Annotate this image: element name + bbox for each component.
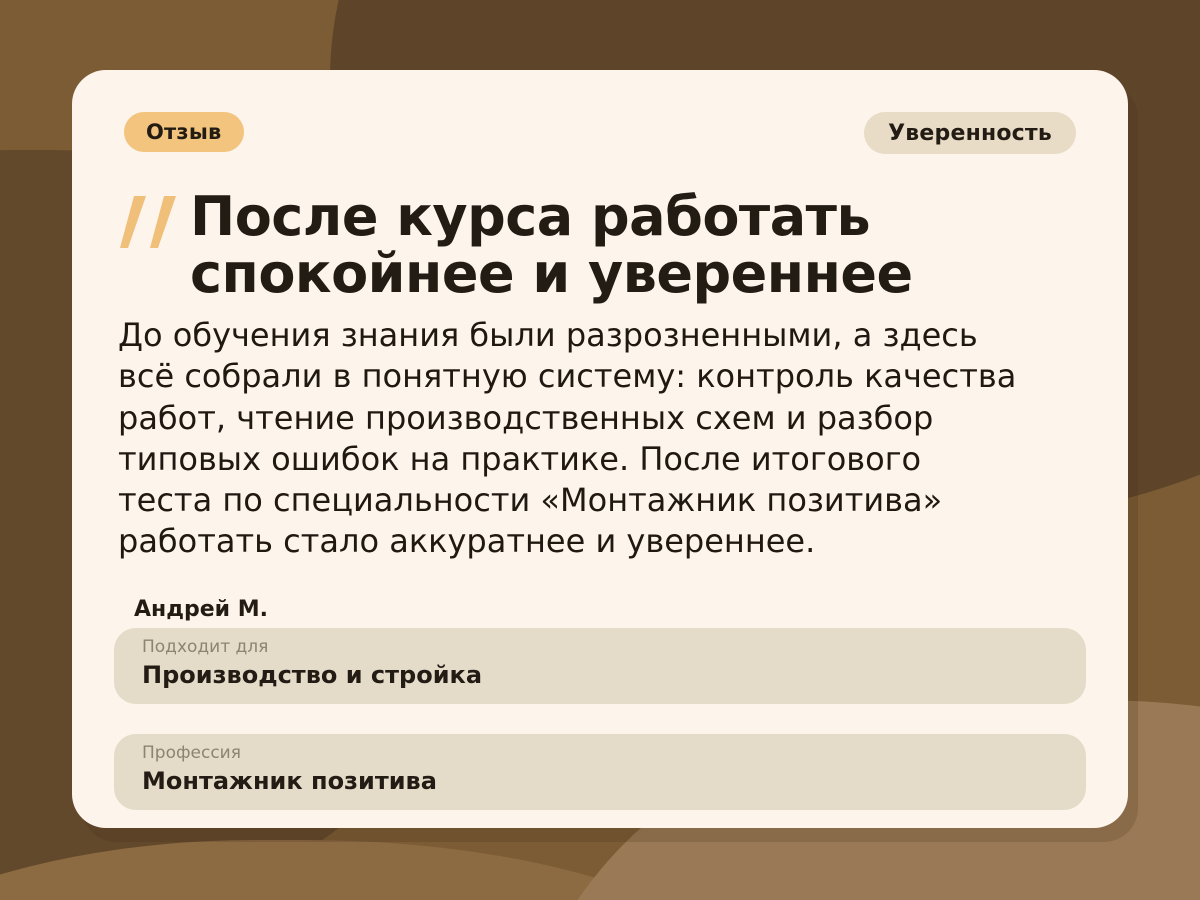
testimonial-slide: Отзыв Уверенность После курса работать с… [0,0,1200,900]
author-name: Андрей М. [134,597,268,622]
meta-label: Профессия [142,744,1058,763]
meta-value: Производство и стройка [142,662,1058,690]
testimonial-body: До обучения знания были разрозненными, а… [118,315,1018,563]
page-title: После курса работать спокойнее и уверенн… [118,188,1084,302]
testimonial-card: Отзыв Уверенность После курса работать с… [72,70,1128,828]
badge-kind: Отзыв [124,112,244,152]
meta-value: Монтажник позитива [142,768,1058,796]
background-blob-bottom [0,840,780,900]
heading-row: После курса работать спокойнее и уверенн… [118,188,1084,302]
meta-card-profession: Профессия Монтажник позитива [114,734,1086,810]
badge-topic: Уверенность [864,112,1076,154]
meta-label: Подходит для [142,638,1058,657]
meta-card-suitable-for: Подходит для Производство и стройка [114,628,1086,704]
quote-mark-icon [118,196,180,248]
